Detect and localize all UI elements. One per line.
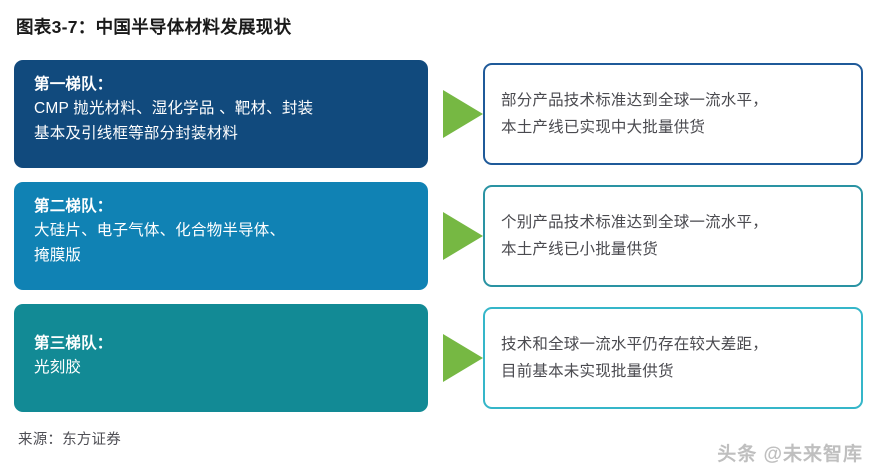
tier-row-2: 第二梯队： 大硅片、电子气体、化合物半导体、 掩膜版 个别产品技术标准达到全球一…	[0, 182, 877, 290]
tier-body-1: CMP 抛光材料、湿化学品 、靶材、封装 基本及引线框等部分封装材料	[34, 97, 410, 146]
tier-body-3: 光刻胶	[34, 356, 410, 380]
tier-body-line: 光刻胶	[34, 356, 410, 380]
source-note: 来源：东方证券	[18, 428, 121, 449]
tier-body-line: 基本及引线框等部分封装材料	[34, 122, 410, 146]
tier-body-line: CMP 抛光材料、湿化学品 、靶材、封装	[34, 97, 410, 121]
note-line: 个别产品技术标准达到全球一流水平，	[501, 209, 845, 236]
note-line: 本土产线已小批量供货	[501, 236, 845, 263]
note-card-3[interactable]: 技术和全球一流水平仍存在较大差距， 目前基本未实现批量供货	[483, 307, 863, 409]
tier-row-3: 第三梯队： 光刻胶 技术和全球一流水平仍存在较大差距， 目前基本未实现批量供货	[0, 304, 877, 412]
right-triangle-arrow-icon	[443, 332, 485, 384]
note-line: 目前基本未实现批量供货	[501, 358, 845, 385]
tier-body-line: 掩膜版	[34, 244, 410, 268]
right-triangle-arrow-icon	[443, 88, 485, 140]
note-line: 本土产线已实现中大批量供货	[501, 114, 845, 141]
note-card-1[interactable]: 部分产品技术标准达到全球一流水平， 本土产线已实现中大批量供货	[483, 63, 863, 165]
tier-body-line: 大硅片、电子气体、化合物半导体、	[34, 219, 410, 243]
tier-label-1: 第一梯队：	[34, 73, 410, 97]
note-line: 部分产品技术标准达到全球一流水平，	[501, 87, 845, 114]
tier-card-2[interactable]: 第二梯队： 大硅片、电子气体、化合物半导体、 掩膜版	[14, 182, 428, 290]
tier-row-1: 第一梯队： CMP 抛光材料、湿化学品 、靶材、封装 基本及引线框等部分封装材料…	[0, 60, 877, 168]
tier-body-2: 大硅片、电子气体、化合物半导体、 掩膜版	[34, 219, 410, 268]
watermark: 头条 @未来智库	[717, 439, 863, 466]
note-line: 技术和全球一流水平仍存在较大差距，	[501, 331, 845, 358]
tier-card-3[interactable]: 第三梯队： 光刻胶	[14, 304, 428, 412]
tier-label-2: 第二梯队：	[34, 195, 410, 219]
tier-card-1[interactable]: 第一梯队： CMP 抛光材料、湿化学品 、靶材、封装 基本及引线框等部分封装材料	[14, 60, 428, 168]
tier-label-3: 第三梯队：	[34, 332, 410, 356]
page-title: 图表3-7：中国半导体材料发展现状	[16, 14, 291, 39]
right-triangle-arrow-icon	[443, 210, 485, 262]
note-card-2[interactable]: 个别产品技术标准达到全球一流水平， 本土产线已小批量供货	[483, 185, 863, 287]
tier-rows-container: 第一梯队： CMP 抛光材料、湿化学品 、靶材、封装 基本及引线框等部分封装材料…	[0, 60, 877, 426]
